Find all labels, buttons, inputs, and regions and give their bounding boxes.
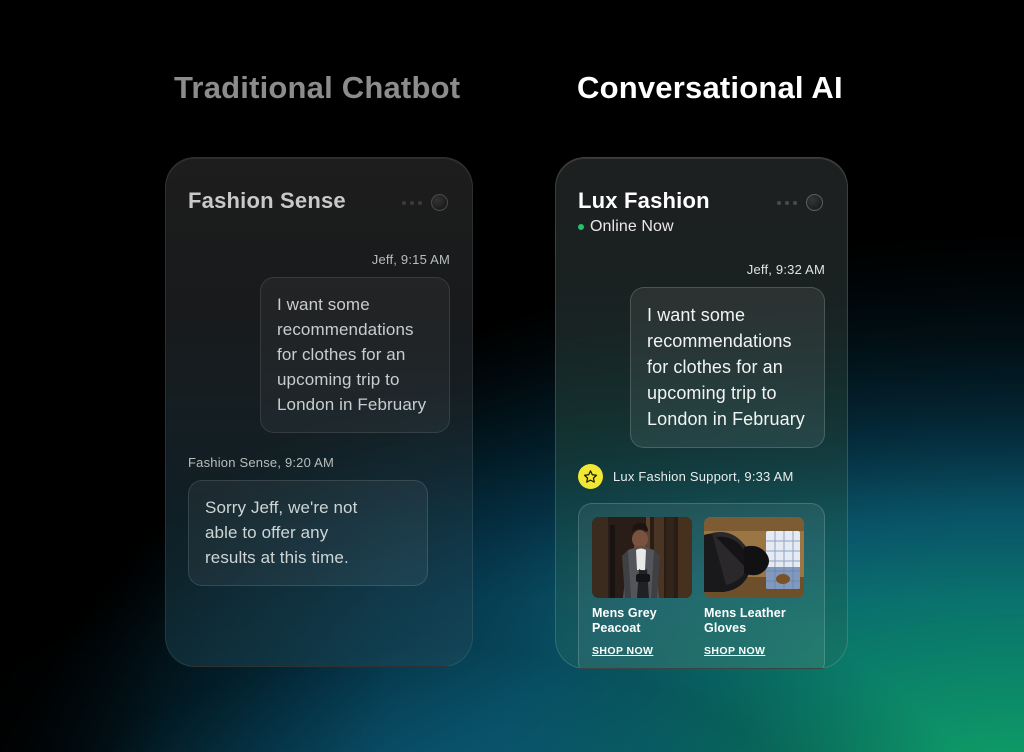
support-agent-label: Lux Fashion Support, 9:33 AM <box>613 469 793 484</box>
message-meta: Jeff, 9:32 AM <box>578 262 825 277</box>
message-bubble-user: I want some recommendations for clothes … <box>260 277 450 433</box>
product-card[interactable]: Mens Leather Gloves SHOP NOW <box>704 517 804 659</box>
avatar-icon[interactable] <box>806 194 823 211</box>
message-meta: Jeff, 9:15 AM <box>188 252 450 267</box>
more-options-icon[interactable] <box>777 201 797 205</box>
product-card[interactable]: Mens Grey Peacoat SHOP NOW <box>592 517 692 659</box>
section-headings: Traditional Chatbot Conversational AI <box>0 0 1024 150</box>
product-name: Mens Grey Peacoat <box>592 606 692 636</box>
online-status-label: Online Now <box>590 218 674 236</box>
message-bubble-user: I want some recommendations for clothes … <box>630 287 825 448</box>
product-name: Mens Leather Gloves <box>704 606 804 636</box>
support-agent-row: Lux Fashion Support, 9:33 AM <box>578 464 825 489</box>
traditional-chatbot-phone: Fashion Sense Jeff, 9:15 AM I want some … <box>165 157 473 667</box>
right-chat-title: Lux Fashion <box>578 188 710 214</box>
online-status-dot <box>578 224 584 230</box>
heading-traditional-chatbot: Traditional Chatbot <box>174 70 460 106</box>
conversational-ai-phone: Lux Fashion Online Now Jeff, 9:32 AM I w… <box>555 157 848 669</box>
heading-conversational-ai: Conversational AI <box>577 70 843 106</box>
message-bubble-bot: Sorry Jeff, we're not able to offer any … <box>188 480 428 586</box>
star-icon <box>578 464 603 489</box>
online-status: Online Now <box>578 218 710 236</box>
shop-now-link[interactable]: SHOP NOW <box>592 645 653 657</box>
more-options-icon[interactable] <box>402 201 422 205</box>
right-header-icons <box>777 194 823 211</box>
product-image-gloves <box>704 517 804 598</box>
product-recommendations-panel: Mens Grey Peacoat SHOP NOW <box>578 503 825 669</box>
right-chat-header: Lux Fashion Online Now <box>578 188 825 236</box>
left-chat-title: Fashion Sense <box>188 188 346 214</box>
left-header-icons <box>402 194 448 211</box>
avatar-icon[interactable] <box>431 194 448 211</box>
left-chat-header: Fashion Sense <box>188 188 450 214</box>
shop-now-link[interactable]: SHOP NOW <box>704 645 765 657</box>
product-image-peacoat <box>592 517 692 598</box>
message-meta: Fashion Sense, 9:20 AM <box>188 455 450 470</box>
